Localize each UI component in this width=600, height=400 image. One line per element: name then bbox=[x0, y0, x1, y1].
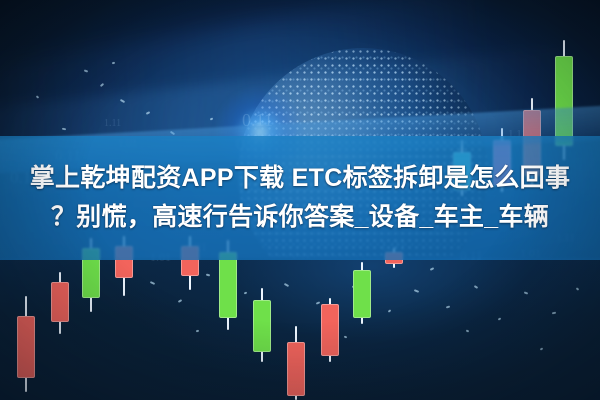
candlestick-body bbox=[321, 304, 339, 356]
page-title: 掌上乾坤配资APP下载 ETC标签拆卸是怎么回事 ？别慌，高速行告诉你答案_设备… bbox=[0, 140, 600, 256]
candlestick bbox=[51, 272, 69, 334]
title-line-2: ？别慌，高速行告诉你答案_设备_车主_车辆 bbox=[51, 198, 549, 237]
candlestick bbox=[353, 262, 371, 324]
candlestick-body bbox=[287, 342, 305, 396]
candlestick-body bbox=[253, 300, 271, 352]
candlestick bbox=[253, 288, 271, 362]
candlestick-body bbox=[17, 316, 35, 378]
candlestick-body bbox=[353, 270, 371, 318]
candlestick-body bbox=[219, 252, 237, 318]
candlestick bbox=[287, 326, 305, 400]
candlestick-body bbox=[51, 282, 69, 322]
banner-image: 0.110.111.011.110.110.211.110.111.010.11… bbox=[0, 0, 600, 400]
candlestick-body bbox=[555, 56, 573, 146]
title-line-1: 掌上乾坤配资APP下载 ETC标签拆卸是怎么回事 bbox=[30, 159, 571, 198]
candlestick bbox=[321, 298, 339, 362]
candlestick bbox=[17, 296, 35, 392]
